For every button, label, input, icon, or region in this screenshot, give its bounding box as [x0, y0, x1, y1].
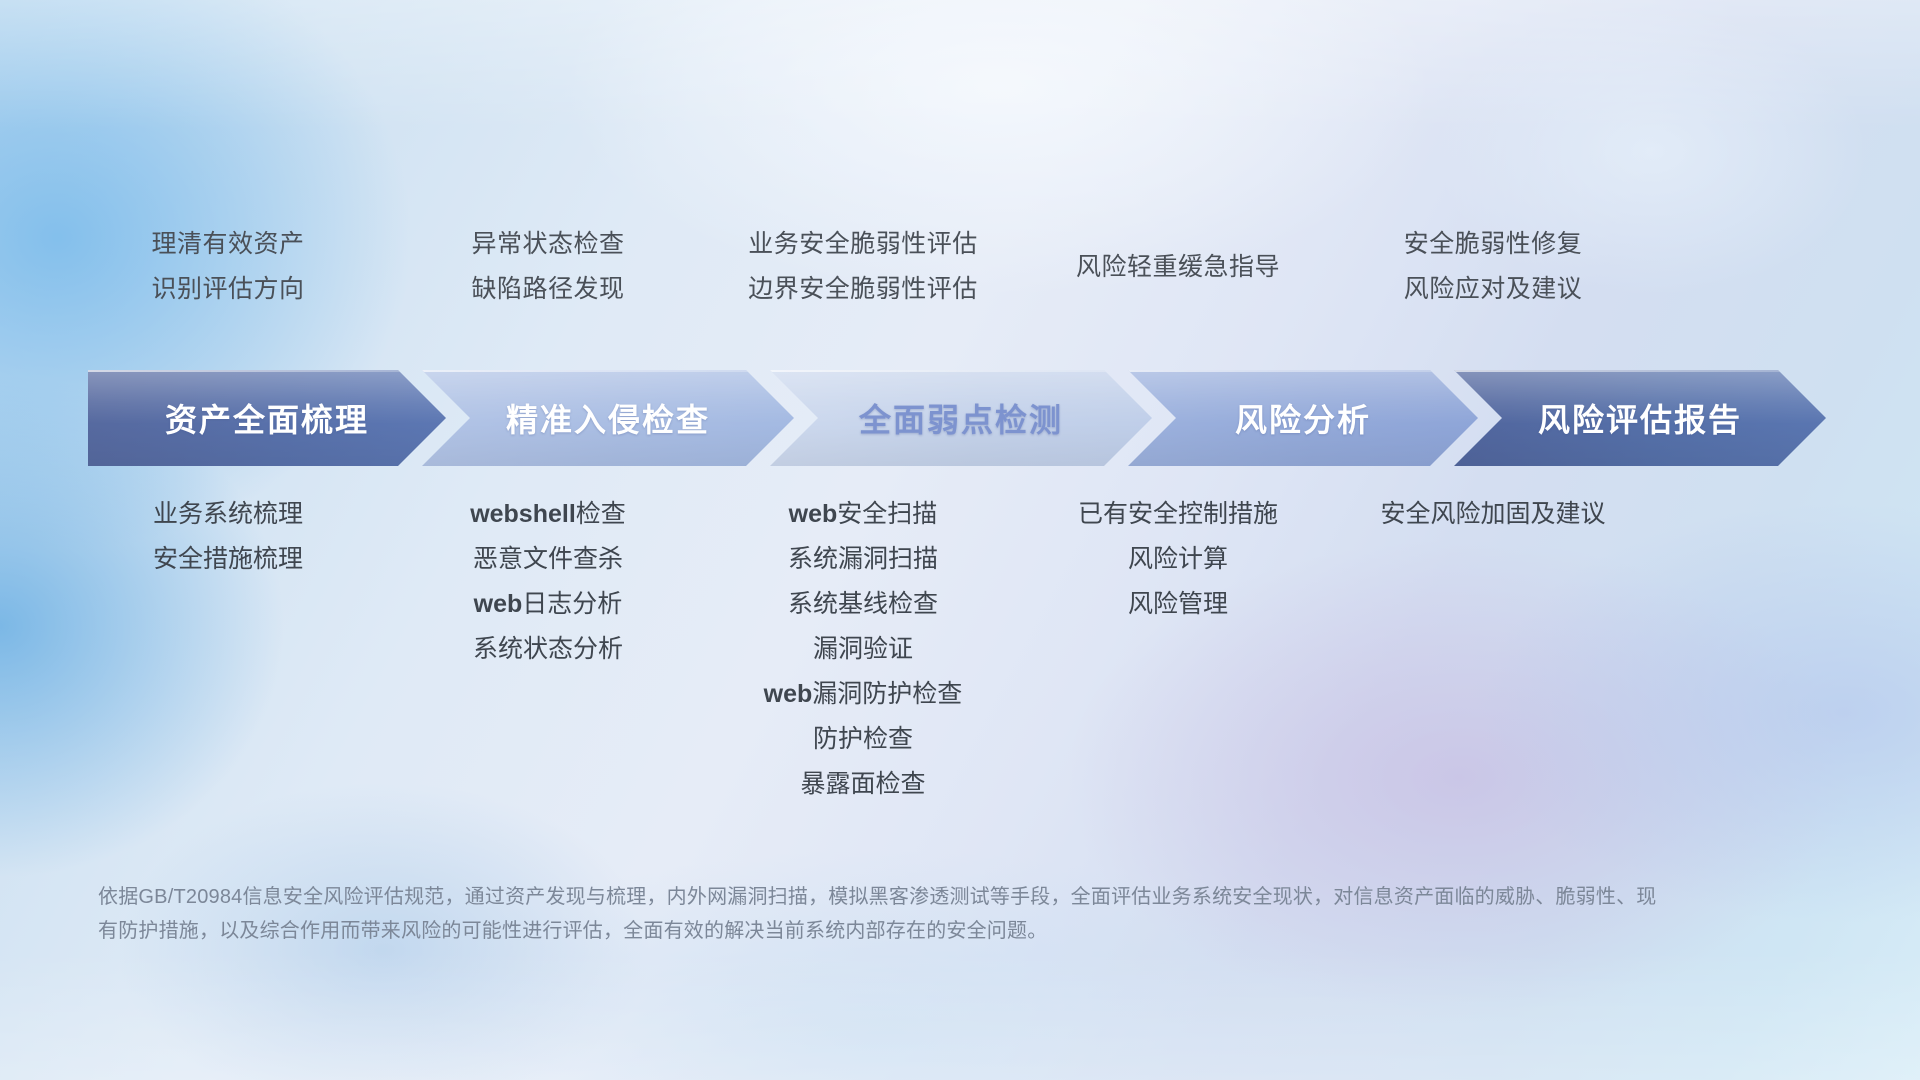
stage-arrow-highlight: [1128, 370, 1478, 372]
stage-label: 风险分析: [1235, 395, 1371, 441]
bottom-labels-intrusion: webshell检查 恶意文件查杀 web日志分析 系统状态分析: [398, 492, 698, 672]
top-label: 安全脆弱性修复: [1328, 222, 1658, 267]
stage-arrow-weakness[interactable]: 全面弱点检测: [770, 370, 1152, 466]
stage-arrow-highlight: [770, 370, 1152, 372]
bottom-label: 系统基线检查: [698, 582, 1028, 627]
bottom-label: 恶意文件查杀: [398, 537, 698, 582]
bottom-label: 安全措施梳理: [58, 537, 398, 582]
bottom-labels-weakness: web安全扫描 系统漏洞扫描 系统基线检查 漏洞验证 web漏洞防护检查 防护检…: [698, 492, 1028, 807]
process-stage-band: 资产全面梳理 精准入侵检查 全面弱点检测 风险分析 风险评估报告: [88, 370, 1846, 466]
bottom-label: 系统状态分析: [398, 627, 698, 672]
stage-label: 风险评估报告: [1538, 395, 1742, 441]
bottom-label: 暴露面检查: [698, 762, 1028, 807]
bottom-label: web漏洞防护检查: [698, 672, 1028, 717]
bottom-label: 风险计算: [1028, 537, 1328, 582]
bottom-label: 风险管理: [1028, 582, 1328, 627]
stage-label: 资产全面梳理: [165, 395, 369, 441]
bottom-label: web安全扫描: [698, 492, 1028, 537]
bottom-label: 业务系统梳理: [58, 492, 398, 537]
top-label: 业务安全脆弱性评估: [698, 222, 1028, 267]
top-labels-report: 安全脆弱性修复 风险应对及建议: [1328, 222, 1658, 312]
top-labels-intrusion: 异常状态检查 缺陷路径发现: [398, 222, 698, 312]
top-label: 边界安全脆弱性评估: [698, 267, 1028, 312]
stage-arrow-highlight: [88, 370, 446, 372]
footer-description: 依据GB/T20984信息安全风险评估规范，通过资产发现与梳理，内外网漏洞扫描，…: [98, 880, 1658, 948]
stage-arrow-intrusion[interactable]: 精准入侵检查: [422, 370, 794, 466]
bottom-labels-risk-analysis: 已有安全控制措施 风险计算 风险管理: [1028, 492, 1328, 627]
top-label: 风险应对及建议: [1328, 267, 1658, 312]
top-label: 理清有效资产: [58, 222, 398, 267]
bottom-label: 漏洞验证: [698, 627, 1028, 672]
top-labels-asset: 理清有效资产 识别评估方向: [58, 222, 398, 312]
bottom-label-row: 业务系统梳理 安全措施梳理 webshell检查 恶意文件查杀 web日志分析 …: [0, 492, 1920, 807]
bottom-label: 安全风险加固及建议: [1328, 492, 1658, 537]
process-diagram: 理清有效资产 识别评估方向 异常状态检查 缺陷路径发现 业务安全脆弱性评估 边界…: [0, 0, 1920, 1080]
bottom-labels-asset: 业务系统梳理 安全措施梳理: [58, 492, 398, 582]
stage-arrow-highlight: [422, 370, 794, 372]
top-label-row: 理清有效资产 识别评估方向 异常状态检查 缺陷路径发现 业务安全脆弱性评估 边界…: [0, 222, 1920, 312]
stage-arrow-report[interactable]: 风险评估报告: [1454, 370, 1826, 466]
top-labels-weakness: 业务安全脆弱性评估 边界安全脆弱性评估: [698, 222, 1028, 312]
bottom-label: web日志分析: [398, 582, 698, 627]
bottom-label: 已有安全控制措施: [1028, 492, 1328, 537]
bottom-label: webshell检查: [398, 492, 698, 537]
top-label: 风险轻重缓急指导: [1028, 245, 1328, 290]
stage-arrow-asset[interactable]: 资产全面梳理: [88, 370, 446, 466]
top-labels-risk-analysis: 风险轻重缓急指导: [1028, 222, 1328, 290]
stage-arrow-highlight: [1454, 370, 1826, 372]
top-label: 识别评估方向: [58, 267, 398, 312]
bottom-label: 系统漏洞扫描: [698, 537, 1028, 582]
top-label: 异常状态检查: [398, 222, 698, 267]
top-label: 缺陷路径发现: [398, 267, 698, 312]
bottom-labels-report: 安全风险加固及建议: [1328, 492, 1658, 537]
bottom-label: 防护检查: [698, 717, 1028, 762]
stage-label: 精准入侵检查: [506, 395, 710, 441]
stage-label: 全面弱点检测: [859, 395, 1063, 441]
stage-arrow-risk-analysis[interactable]: 风险分析: [1128, 370, 1478, 466]
